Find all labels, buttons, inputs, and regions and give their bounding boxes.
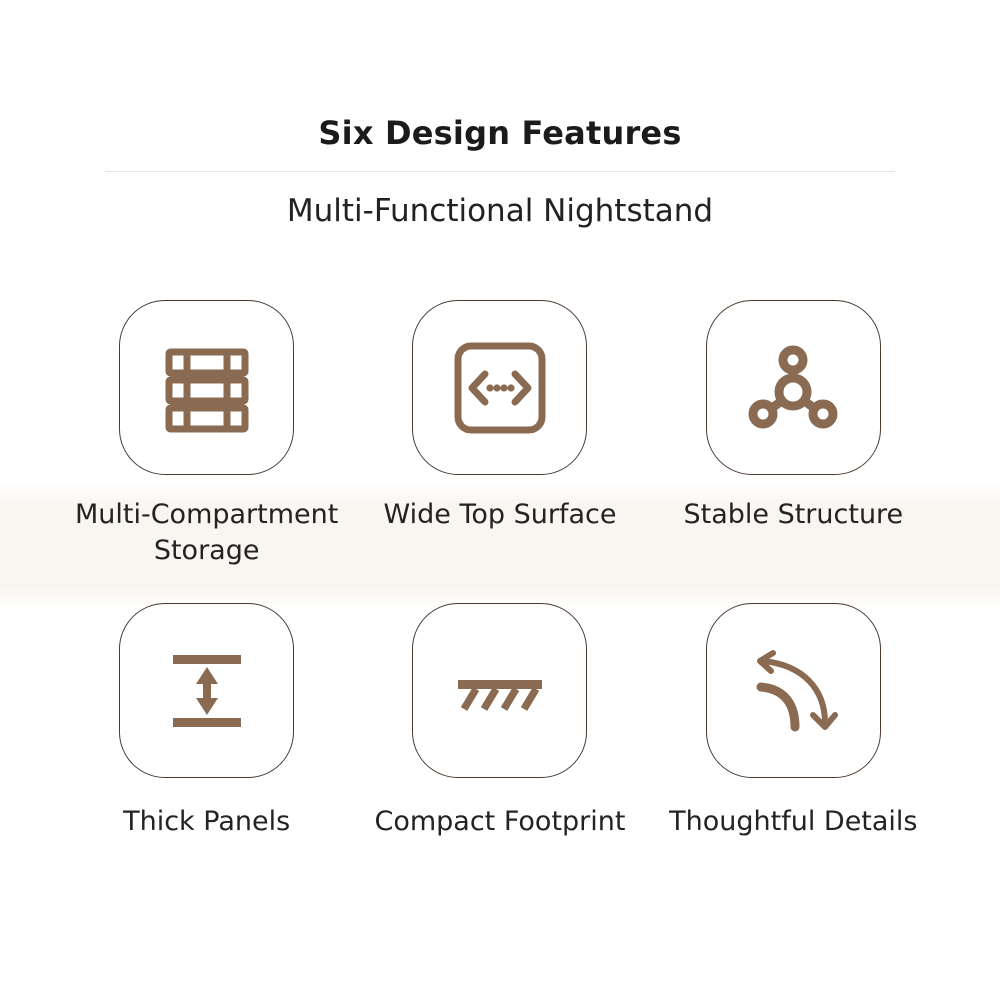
header: Six Design Features Multi-Functional Nig… bbox=[0, 0, 1000, 230]
icon-card bbox=[412, 603, 587, 778]
icon-card bbox=[119, 603, 294, 778]
feature-item-multi-compartment-storage[interactable]: Multi-Compartment Storage bbox=[62, 300, 352, 603]
feature-label: Compact Footprint bbox=[374, 804, 625, 840]
icon-card bbox=[706, 300, 881, 475]
feature-item-compact-footprint[interactable]: Compact Footprint bbox=[355, 603, 645, 906]
feature-label: Stable Structure bbox=[683, 497, 903, 533]
hatched-ground-icon bbox=[448, 639, 552, 743]
infographic-sheet: Six Design Features Multi-Functional Nig… bbox=[0, 0, 1000, 1000]
feature-label: Thoughtful Details bbox=[669, 804, 917, 840]
feature-item-wide-top-surface[interactable]: Wide Top Surface bbox=[355, 300, 645, 603]
feature-label: Multi-Compartment Storage bbox=[62, 497, 352, 569]
width-arrows-square-icon bbox=[448, 336, 552, 440]
icon-card bbox=[412, 300, 587, 475]
thickness-arrow-icon bbox=[155, 639, 259, 743]
stacked-compartments-icon bbox=[155, 336, 259, 440]
feature-grid: Multi-Compartment Storage Wide To bbox=[60, 300, 940, 906]
feature-item-stable-structure[interactable]: Stable Structure bbox=[648, 300, 938, 603]
icon-card bbox=[706, 603, 881, 778]
feature-label: Thick Panels bbox=[123, 804, 290, 840]
icon-card bbox=[119, 300, 294, 475]
feature-label: Wide Top Surface bbox=[384, 497, 617, 533]
curved-double-arrow-icon bbox=[741, 639, 845, 743]
page-subtitle: Multi-Functional Nightstand bbox=[0, 172, 1000, 230]
feature-item-thick-panels[interactable]: Thick Panels bbox=[62, 603, 352, 906]
page-title: Six Design Features bbox=[0, 0, 1000, 151]
feature-item-thoughtful-details[interactable]: Thoughtful Details bbox=[648, 603, 938, 906]
molecule-nodes-icon bbox=[741, 336, 845, 440]
